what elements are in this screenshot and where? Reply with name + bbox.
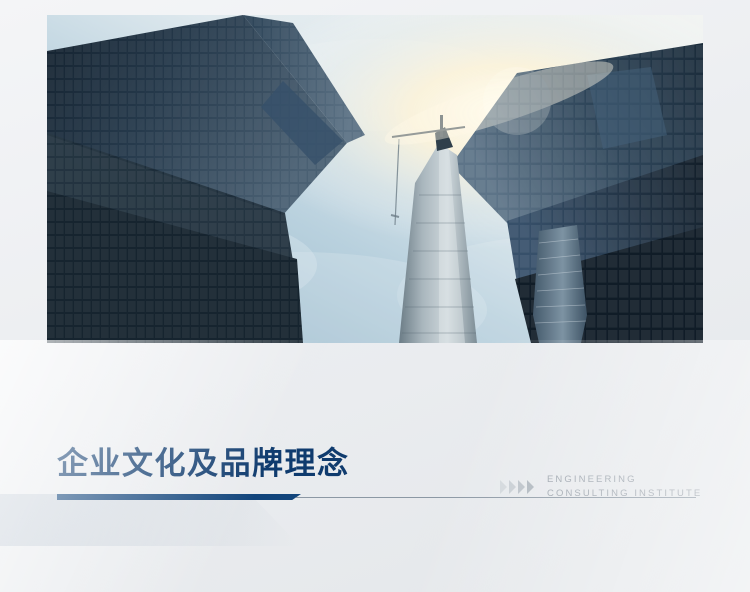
slide-canvas: 企业文化及品牌理念 ENGINEERING CONSULTING INSTITU… (0, 0, 750, 592)
chevron-1 (500, 480, 507, 494)
brand-english: ENGINEERING CONSULTING INSTITUTE (547, 473, 702, 501)
chevron-4 (527, 480, 534, 494)
title-rule-thick (57, 494, 279, 500)
brand-english-line-2: CONSULTING INSTITUTE (547, 487, 702, 501)
brand-mark: ENGINEERING CONSULTING INSTITUTE (500, 473, 702, 501)
slide-title: 企业文化及品牌理念 (57, 438, 350, 483)
chevron-right-icon (500, 480, 534, 494)
hero-illustration (47, 15, 703, 343)
chevron-2 (509, 480, 516, 494)
brand-english-line-1: ENGINEERING (547, 473, 702, 487)
chevron-3 (518, 480, 525, 494)
hero-image (47, 15, 703, 343)
